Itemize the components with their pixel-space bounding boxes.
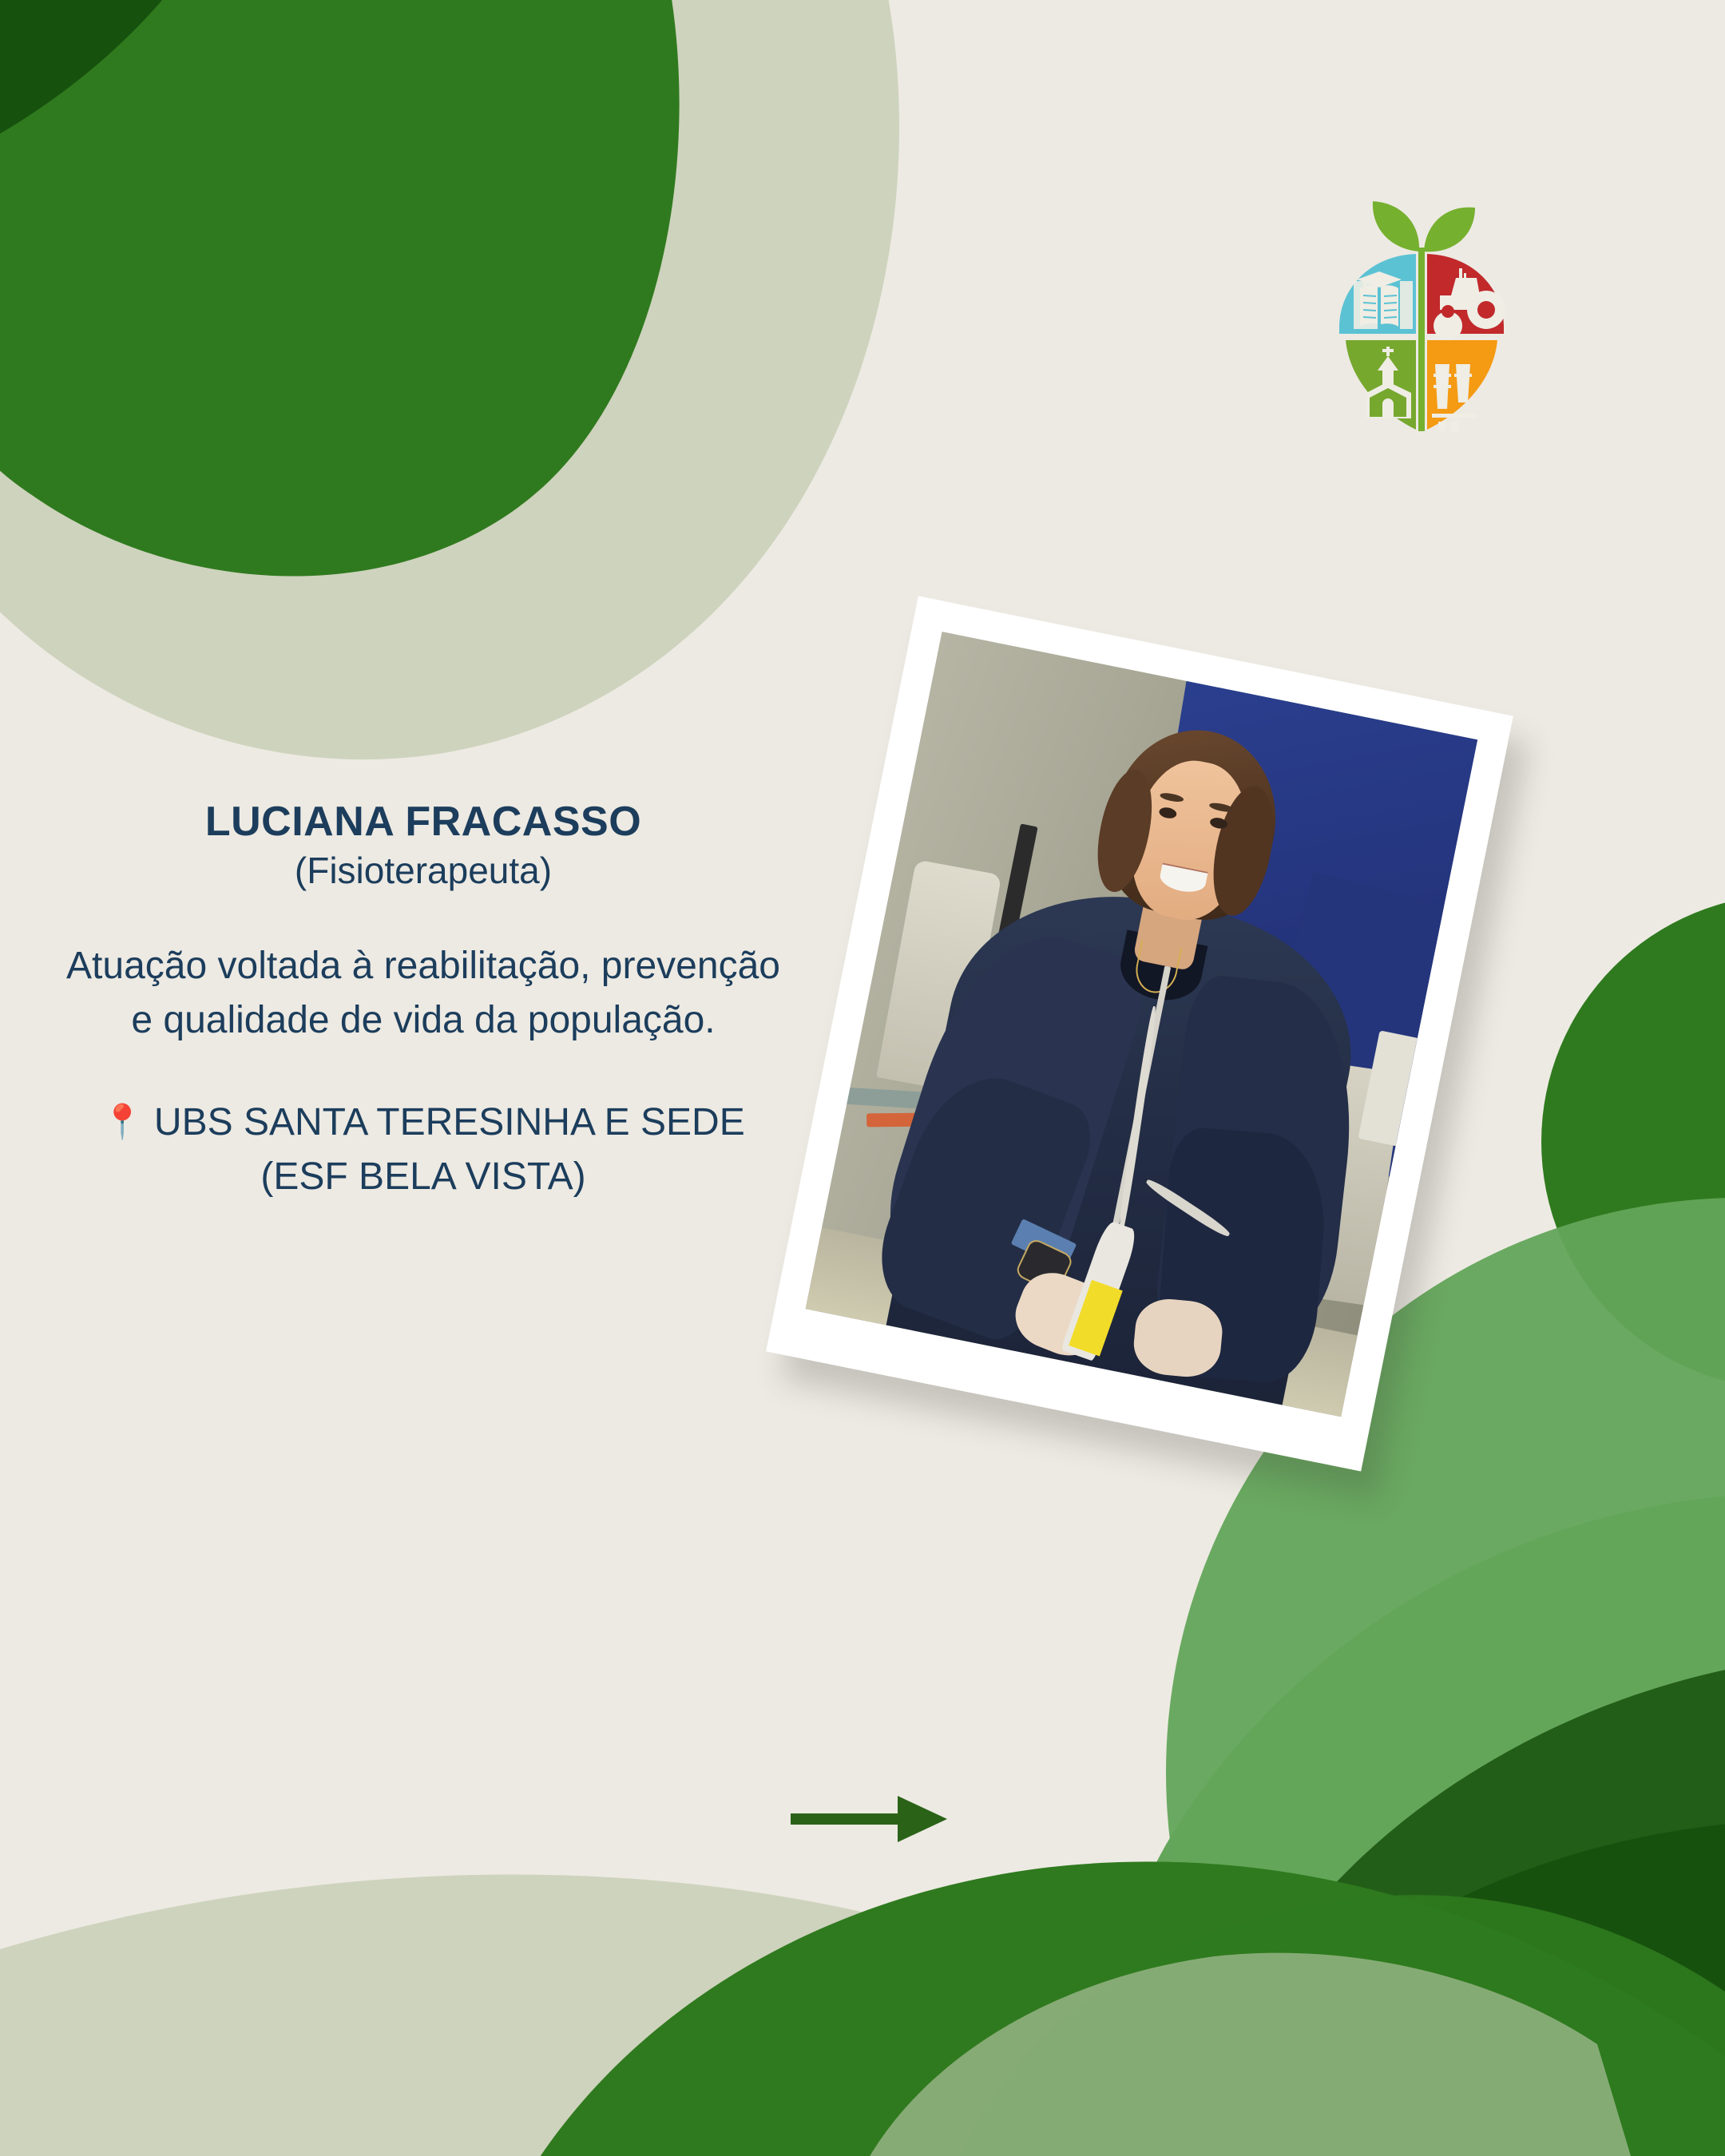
quadrant-industry <box>1427 340 1497 431</box>
profile-location-label: UBS SANTA TERESINHA E SEDE (ESF BELA VIS… <box>154 1101 745 1198</box>
profile-description: Atuação voltada à reabilitação, prevençã… <box>64 939 783 1048</box>
location-pin-icon: 📍 <box>101 1098 143 1146</box>
quadrant-education <box>1339 254 1416 334</box>
quadrant-agriculture <box>1427 254 1505 340</box>
poster-canvas: LUCIANA FRACASSO (Fisioterapeuta) Atuaçã… <box>0 0 1725 2156</box>
profile-role: (Fisioterapeuta) <box>64 848 783 894</box>
profile-name: LUCIANA FRACASSO <box>64 799 783 845</box>
leaf-icon <box>1373 201 1475 252</box>
apple-quadrant-logo <box>1322 184 1521 431</box>
profile-location: 📍 UBS SANTA TERESINHA E SEDE (ESF BELA V… <box>64 1096 783 1204</box>
stem <box>1418 248 1425 431</box>
profile-text-block: LUCIANA FRACASSO (Fisioterapeuta) Atuaçã… <box>64 799 783 1204</box>
profile-photo <box>806 632 1477 1417</box>
quadrant-culture <box>1346 340 1416 430</box>
next-arrow-icon[interactable] <box>791 1793 950 1845</box>
